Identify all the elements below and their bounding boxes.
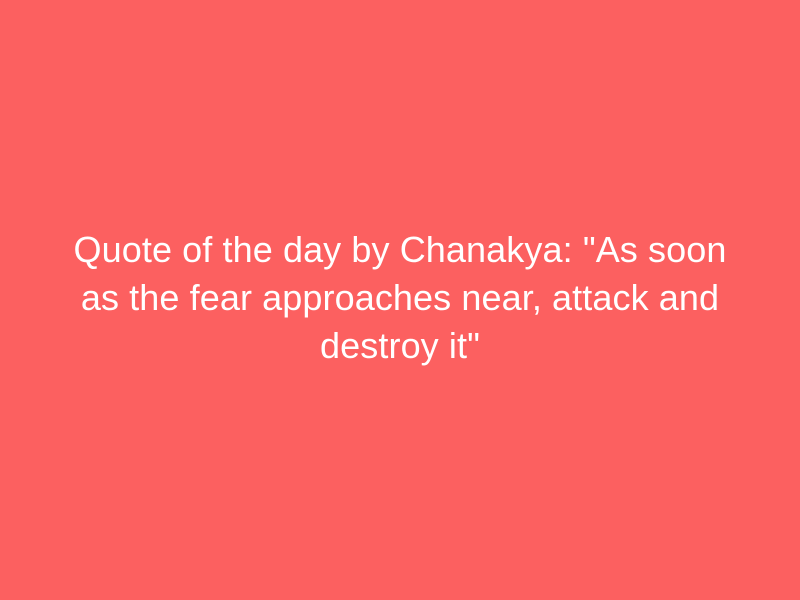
quote-card: Quote of the day by Chanakya: "As soon a… [0,0,800,600]
quote-of-the-day-text: Quote of the day by Chanakya: "As soon a… [55,226,745,370]
quote-block: Quote of the day by Chanakya: "As soon a… [55,226,745,370]
